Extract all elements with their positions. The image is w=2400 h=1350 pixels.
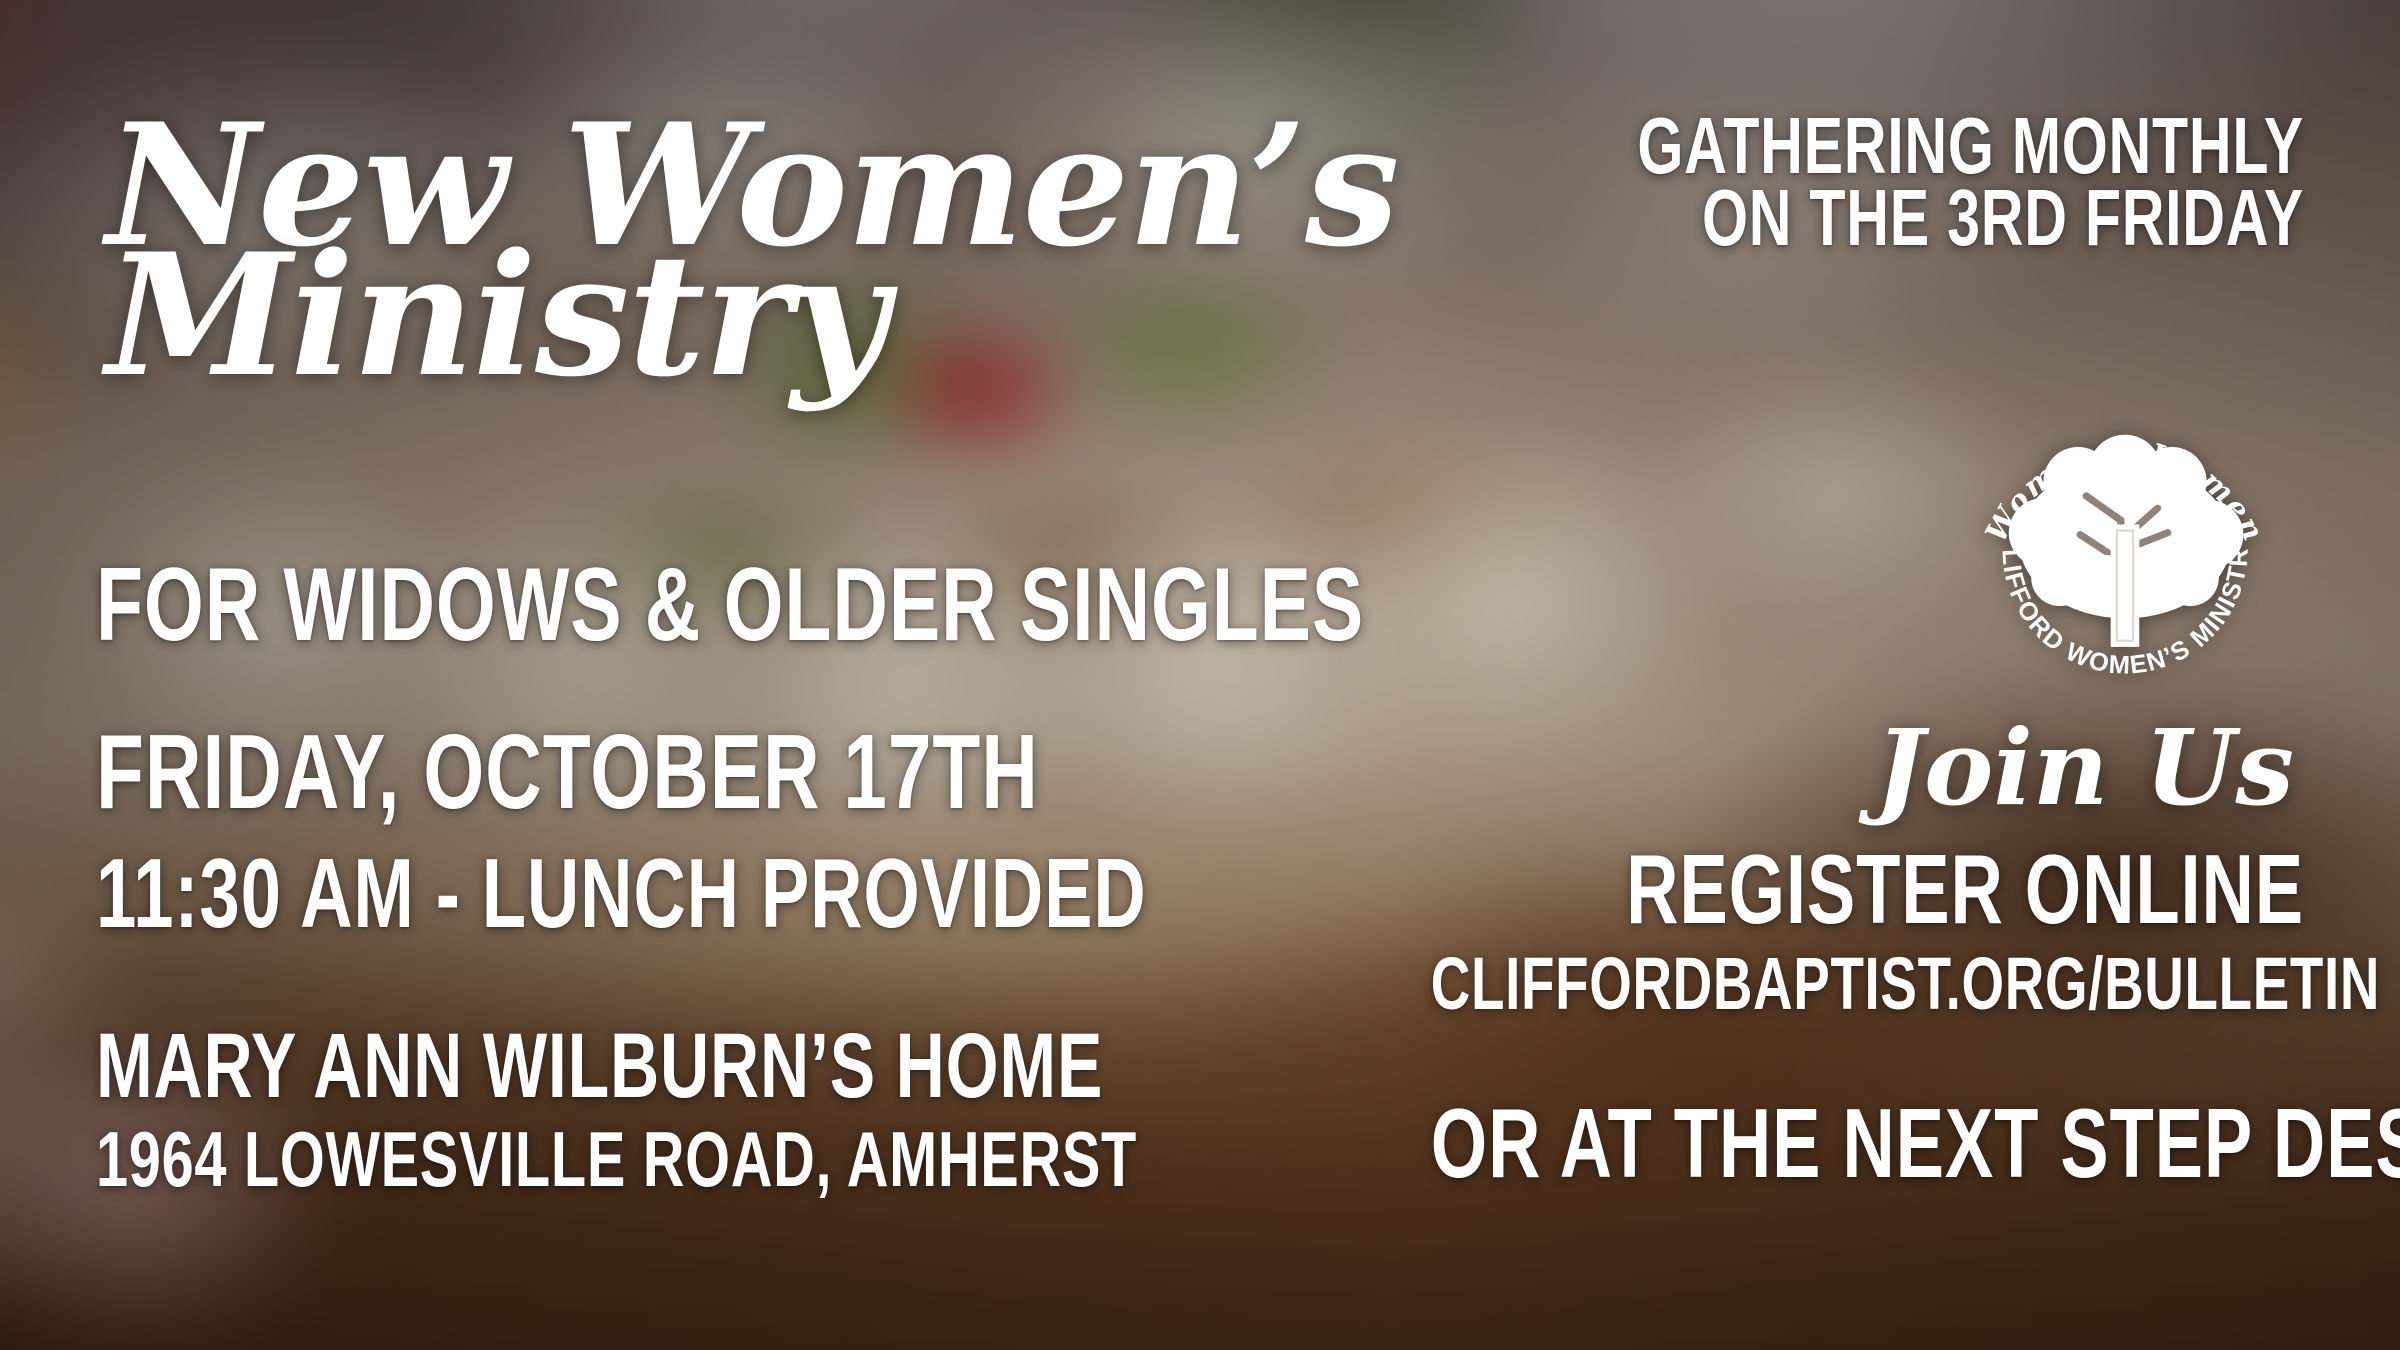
event-date: FRIDAY, OCTOBER 17TH: [96, 722, 1039, 824]
event-venue: MARY ANN WILBURN’S HOME: [96, 1022, 1103, 1110]
flyer-canvas: New Women’s Ministry FOR WIDOWS & OLDER …: [0, 0, 2400, 1350]
event-time: 11:30 AM - LUNCH PROVIDED: [96, 846, 1147, 940]
flyer-title-line-2: Ministry: [106, 216, 887, 414]
right-content-column: GATHERING MONTHLY ON THE 3RD FRIDAY: [1124, 0, 2304, 1350]
left-content-column: New Women’s Ministry FOR WIDOWS & OLDER …: [96, 0, 1196, 1350]
event-address: 1964 LOWESVILLE ROAD, AMHERST: [96, 1122, 1137, 1197]
join-us-script: Join Us: [1875, 706, 2294, 829]
alternate-register-line: OR AT THE NEXT STEP DESK: [1431, 1096, 2304, 1350]
ministry-logo: Women 2 Women CLIFFORD WOMEN’S MINISTRY: [1972, 398, 2278, 704]
